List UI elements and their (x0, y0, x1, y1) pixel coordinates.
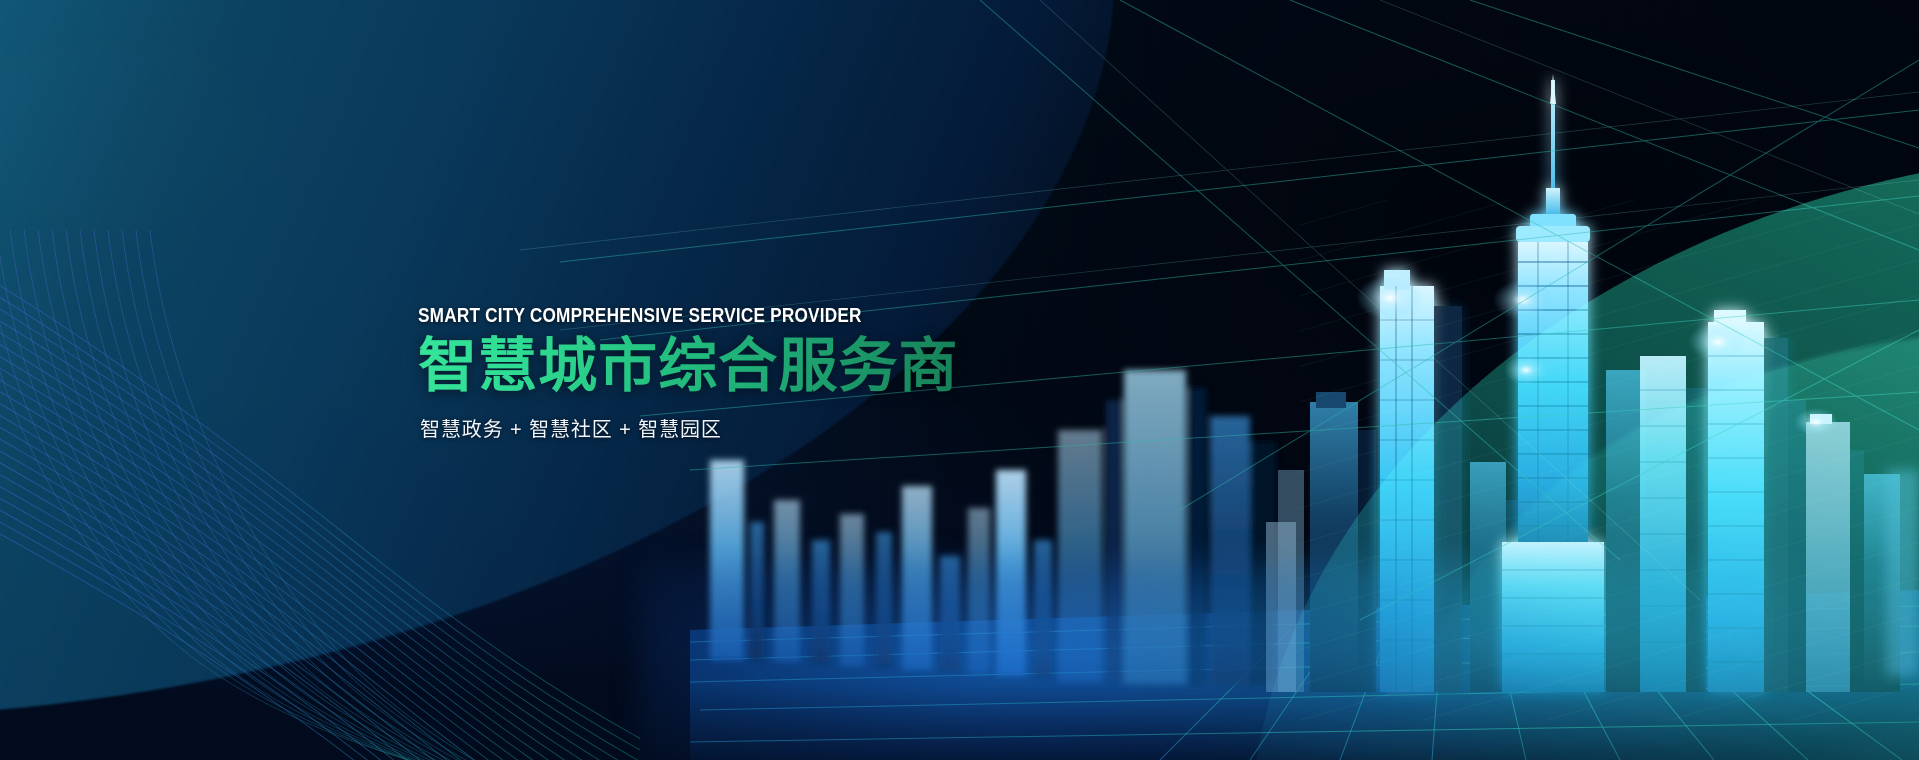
green-light-streaks (1299, 200, 1919, 720)
subtitle-services: 智慧政务 + 智慧社区 + 智慧园区 (420, 413, 1118, 442)
page-title: 智慧城市综合服务商 (418, 335, 1118, 399)
hero-copy-block: SMART CITY COMPREHENSIVE SERVICE PROVIDE… (418, 305, 1118, 442)
smart-city-hero-banner: SMART CITY COMPREHENSIVE SERVICE PROVIDE… (0, 0, 1919, 760)
eyebrow-english-tagline: SMART CITY COMPREHENSIVE SERVICE PROVIDE… (418, 305, 1020, 327)
